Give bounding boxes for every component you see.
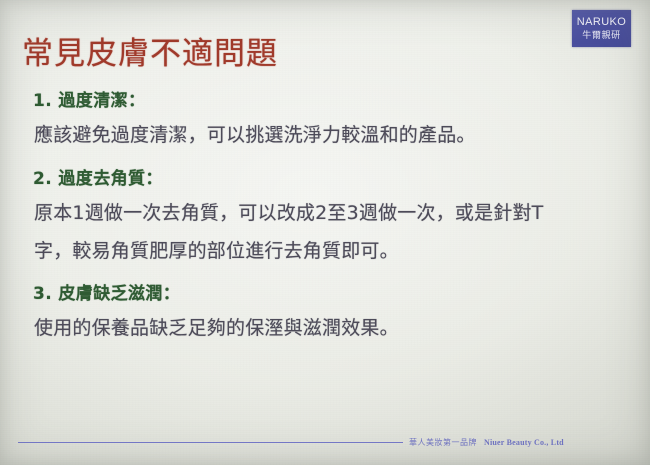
item-body-2-line-2: 字，較易角質肥厚的部位進行去角質即可。 bbox=[34, 232, 632, 270]
item-body-1: 應該避免過度清潔，可以挑選洗淨力較溫和的產品。 bbox=[0, 116, 650, 154]
item-body-1-line-1: 應該避免過度清潔，可以挑選洗淨力較溫和的產品。 bbox=[34, 116, 632, 154]
logo-chinese-name: 牛爾親研 bbox=[582, 30, 620, 42]
page-title: 常見皮膚不適問題 bbox=[22, 34, 278, 74]
footer-divider-line bbox=[18, 442, 403, 443]
item-body-2: 原本1週做一次去角質，可以改成2至3週做一次，或是針對T 字，較易角質肥厚的部位… bbox=[0, 194, 650, 270]
item-body-2-line-1: 原本1週做一次去角質，可以改成2至3週做一次，或是針對T bbox=[34, 194, 632, 232]
item-heading-1: 1. 過度清潔： bbox=[0, 86, 650, 116]
slide-body: 1. 過度清潔： 應該避免過度清潔，可以挑選洗淨力較溫和的產品。 2. 過度去角… bbox=[0, 86, 650, 347]
list-item: 3. 皮膚缺乏滋潤： 使用的保養品缺乏足夠的保溼與滋潤效果。 bbox=[0, 279, 650, 347]
item-body-3: 使用的保養品缺乏足夠的保溼與滋潤效果。 bbox=[0, 309, 650, 347]
footer-company-name: Niuer Beauty Co., Ltd bbox=[484, 438, 564, 447]
naruko-logo: NARUKO 牛爾親研 bbox=[572, 10, 631, 47]
spacer bbox=[0, 154, 650, 164]
item-heading-2: 2. 過度去角質： bbox=[0, 164, 650, 194]
item-heading-3: 3. 皮膚缺乏滋潤： bbox=[0, 279, 650, 309]
slide-footer: 華人美妝第一品牌 Niuer Beauty Co., Ltd bbox=[0, 435, 650, 449]
footer-chinese-tagline: 華人美妝第一品牌 bbox=[409, 437, 477, 448]
logo-wordmark: NARUKO bbox=[577, 16, 626, 29]
item-body-3-line-1: 使用的保養品缺乏足夠的保溼與滋潤效果。 bbox=[34, 309, 632, 347]
presentation-slide: 常見皮膚不適問題 NARUKO 牛爾親研 1. 過度清潔： 應該避免過度清潔，可… bbox=[0, 0, 650, 465]
list-item: 2. 過度去角質： 原本1週做一次去角質，可以改成2至3週做一次，或是針對T 字… bbox=[0, 164, 650, 270]
list-item: 1. 過度清潔： 應該避免過度清潔，可以挑選洗淨力較溫和的產品。 bbox=[0, 86, 650, 154]
spacer bbox=[0, 270, 650, 279]
